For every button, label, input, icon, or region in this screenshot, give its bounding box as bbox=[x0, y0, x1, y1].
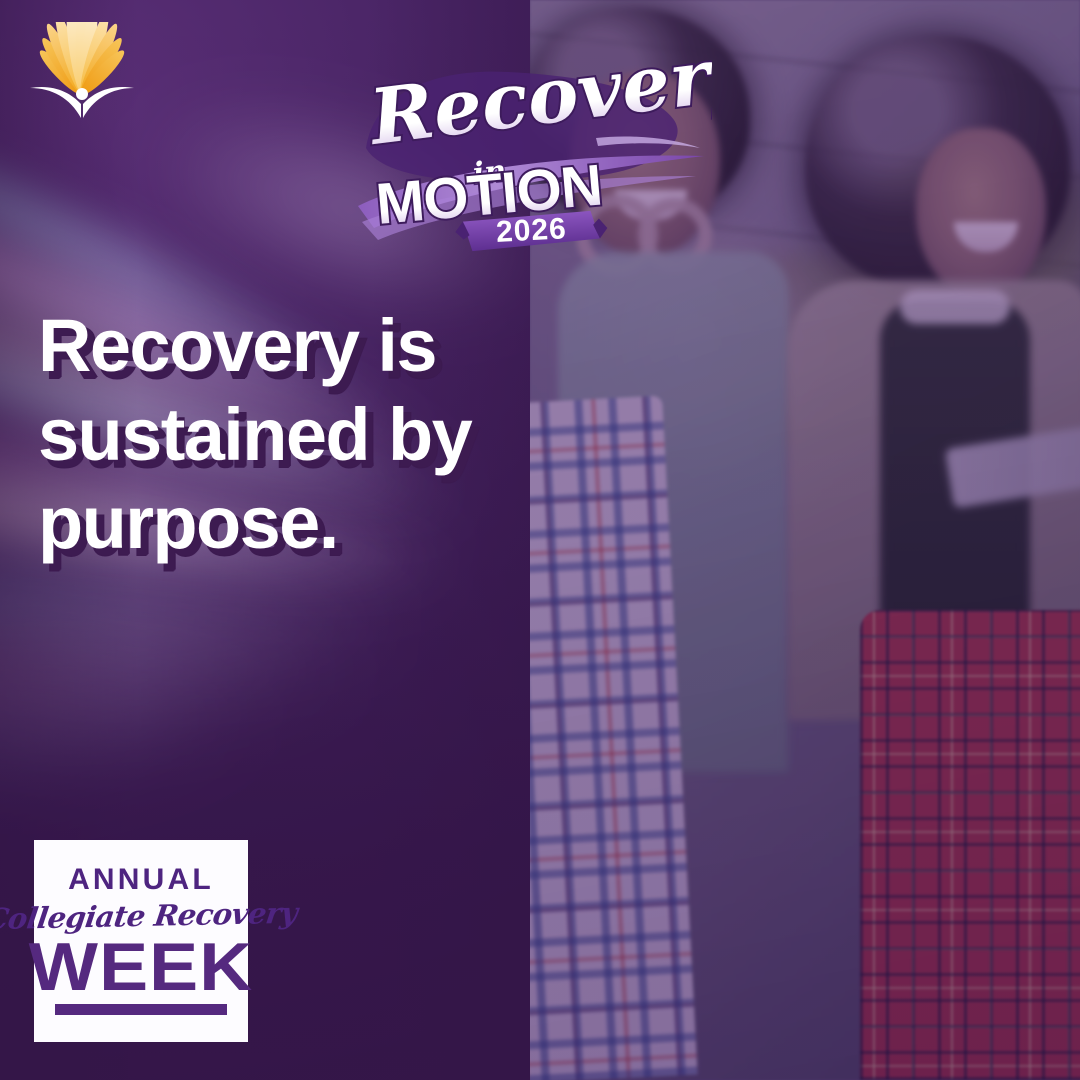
headline-line-1: Recovery is bbox=[38, 310, 508, 383]
logo-petals bbox=[36, 22, 129, 99]
collegiate-recovery-week-badge: ANNUAL Collegiate Recovery WEEK bbox=[34, 840, 248, 1042]
social-graphic-canvas: Recovery in MOTION 2026 Recovery is sust… bbox=[0, 0, 1080, 1080]
headline-line-3: purpose. bbox=[38, 487, 508, 560]
badge-week-label: WEEK bbox=[29, 936, 254, 1000]
logo-year: 2026 bbox=[495, 212, 567, 249]
badge-underline-rule bbox=[55, 1004, 227, 1015]
logo-book-left bbox=[30, 87, 81, 118]
recovery-in-motion-logo: Recovery in MOTION 2026 bbox=[352, 56, 712, 256]
page-title: Recovery is sustained by purpose. bbox=[38, 310, 508, 576]
badge-annual-label: ANNUAL bbox=[68, 865, 214, 895]
logo-book-right bbox=[83, 87, 134, 118]
logo-center-dot bbox=[76, 88, 88, 100]
headline-line-2: sustained by bbox=[38, 399, 508, 472]
open-book-sunburst-logo bbox=[26, 22, 138, 128]
